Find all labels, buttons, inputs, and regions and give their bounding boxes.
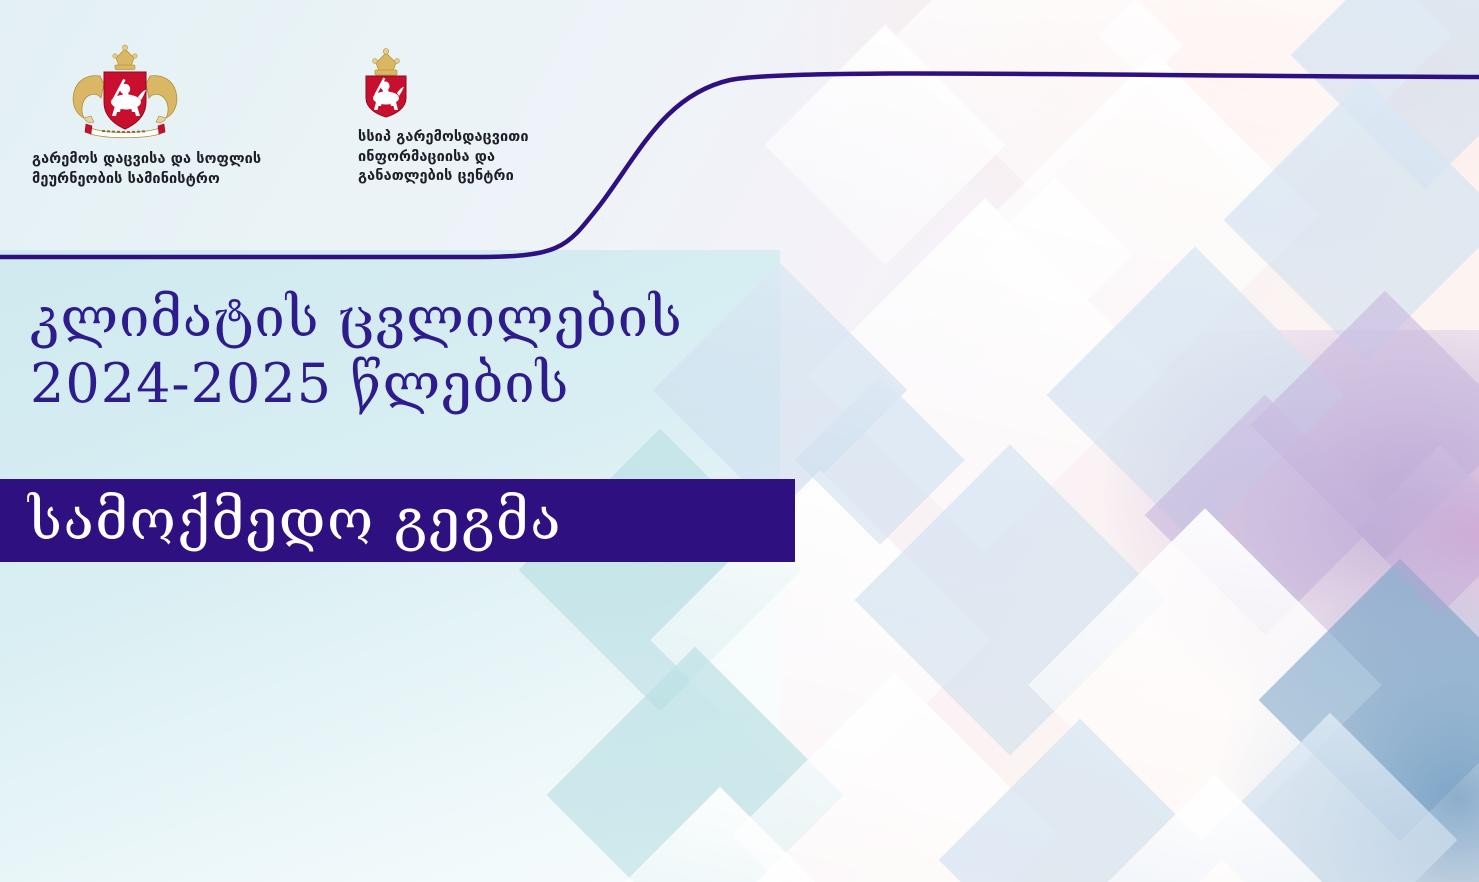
title-banner: სამოქმედო გეგმა (0, 479, 795, 562)
georgia-coat-of-arms-icon (60, 44, 190, 140)
center-name: სსიპ გარემოსდაცვითი ინფორმაციისა და განა… (358, 128, 608, 187)
cover-title: კლიმატის ცვლილების 2024-2025 წლების (30, 288, 930, 415)
center-logo-block: სსიპ გარემოსდაცვითი ინფორმაციისა და განა… (358, 48, 608, 187)
header: გარემოს დაცვისა და სოფლის მეურნეობის სამ… (0, 0, 660, 210)
ministry-name: გარემოს დაცვისა და სოფლის მეურნეობის სამ… (32, 150, 332, 189)
banner-label: სამოქმედო გეგმა (0, 493, 562, 549)
title-line-1: კლიმატის ცვლილების (30, 288, 930, 348)
georgia-shield-crown-icon (358, 48, 414, 118)
title-line-2: 2024-2025 წლების (30, 354, 930, 414)
ministry-logo-block: გარემოს დაცვისა და სოფლის მეურნეობის სამ… (32, 44, 332, 189)
report-cover: გარემოს დაცვისა და სოფლის მეურნეობის სამ… (0, 0, 1479, 882)
